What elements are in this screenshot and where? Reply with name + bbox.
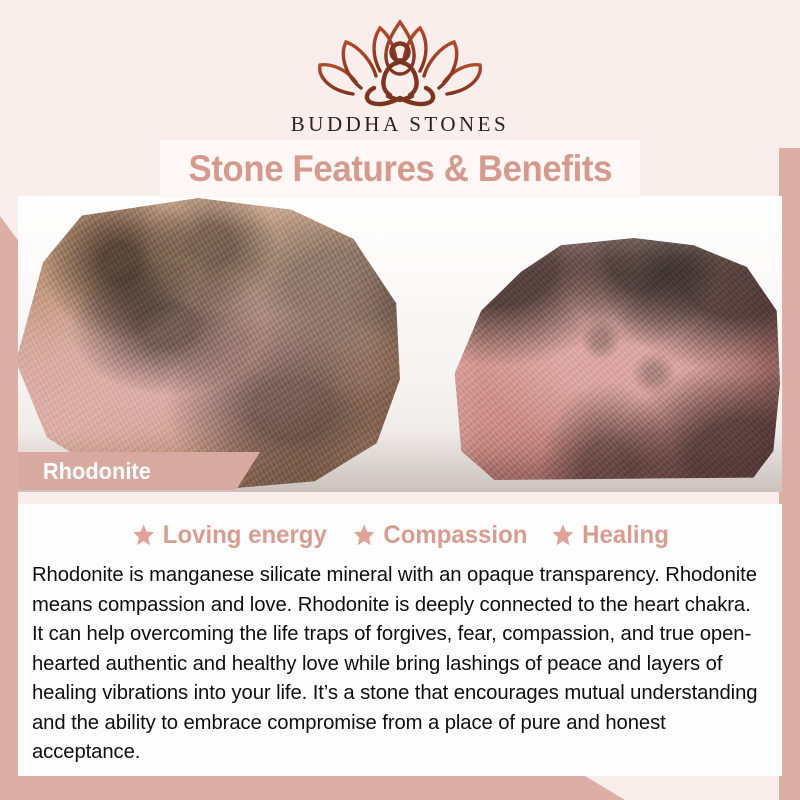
- brand-name: BUDDHA STONES: [291, 112, 509, 137]
- brand-logo: BUDDHA STONES: [0, 16, 800, 137]
- stone-description: Rhodonite is manganese silicate mineral …: [32, 560, 759, 767]
- poster-root: BUDDHA STONES Stone Features & Benefits …: [0, 0, 800, 800]
- benefit-label: Loving energy: [163, 521, 327, 550]
- brand-header: BUDDHA STONES: [0, 0, 800, 148]
- lotus-meditation-icon: [314, 16, 486, 108]
- star-icon: [552, 523, 575, 547]
- benefit-label: Compassion: [384, 521, 528, 550]
- star-icon: [132, 523, 155, 547]
- page-title: Stone Features & Benefits: [188, 148, 612, 190]
- stone-photo: [18, 196, 782, 492]
- content-panel: Loving energy Compassion Healing Rhodoni…: [18, 504, 782, 776]
- benefit-item-loving-energy: Loving energy: [132, 521, 327, 550]
- decor-left-strip: [0, 430, 18, 800]
- decor-bottom-band: [0, 776, 625, 800]
- stone-specimen-left: [18, 198, 400, 490]
- stone-name-label: Rhodonite: [43, 458, 151, 485]
- benefit-item-healing: Healing: [552, 521, 669, 550]
- stone-specimen-right: [448, 238, 780, 480]
- page-title-banner: Stone Features & Benefits: [160, 140, 640, 198]
- benefit-item-compassion: Compassion: [353, 521, 528, 550]
- benefit-label: Healing: [582, 521, 669, 550]
- benefits-row: Loving energy Compassion Healing: [18, 512, 782, 558]
- star-icon: [353, 523, 376, 547]
- stone-name-tag: Rhodonite: [18, 452, 260, 490]
